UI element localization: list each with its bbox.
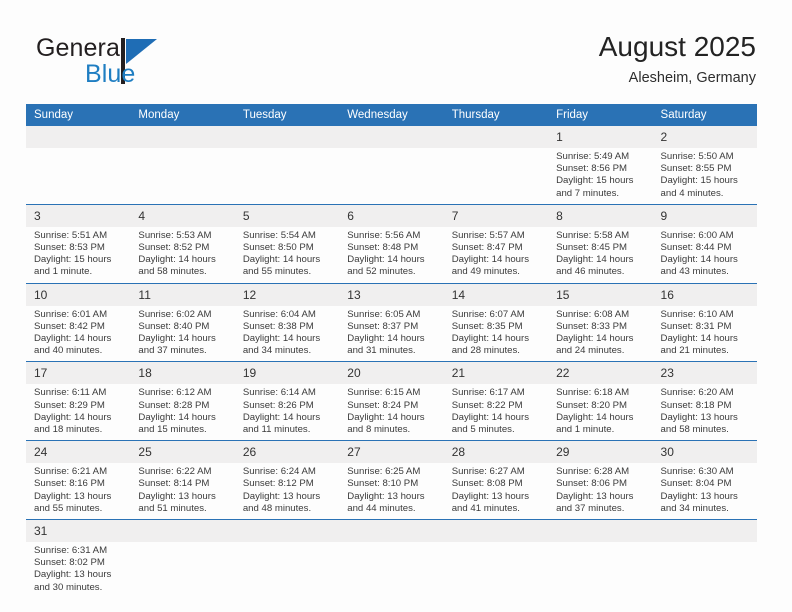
calendar-week-row: 24Sunrise: 6:21 AM Sunset: 8:16 PM Dayli… — [26, 441, 757, 520]
sun-times-info: Sunrise: 6:24 AM Sunset: 8:12 PM Dayligh… — [235, 463, 339, 519]
sun-times-info: Sunrise: 6:17 AM Sunset: 8:22 PM Dayligh… — [444, 384, 548, 440]
sun-times-info: Sunrise: 6:01 AM Sunset: 8:42 PM Dayligh… — [26, 306, 130, 362]
calendar-day-cell[interactable]: 19Sunrise: 6:14 AM Sunset: 8:26 PM Dayli… — [235, 362, 339, 441]
calendar-day-cell[interactable]: 1Sunrise: 5:49 AM Sunset: 8:56 PM Daylig… — [548, 126, 652, 204]
calendar-day-cell[interactable]: 2Sunrise: 5:50 AM Sunset: 8:55 PM Daylig… — [653, 126, 757, 204]
sun-times-info: Sunrise: 5:54 AM Sunset: 8:50 PM Dayligh… — [235, 227, 339, 283]
sun-times-info: Sunrise: 5:57 AM Sunset: 8:47 PM Dayligh… — [444, 227, 548, 283]
sun-times-info: Sunrise: 5:58 AM Sunset: 8:45 PM Dayligh… — [548, 227, 652, 283]
calendar-table: SundayMondayTuesdayWednesdayThursdayFrid… — [26, 104, 757, 598]
day-number: 18 — [130, 362, 234, 384]
weekday-header-friday: Friday — [548, 104, 652, 126]
sun-times-info: Sunrise: 6:22 AM Sunset: 8:14 PM Dayligh… — [130, 463, 234, 519]
calendar-day-cell[interactable]: 15Sunrise: 6:08 AM Sunset: 8:33 PM Dayli… — [548, 283, 652, 362]
calendar-day-cell[interactable]: 29Sunrise: 6:28 AM Sunset: 8:06 PM Dayli… — [548, 441, 652, 520]
calendar-week-row: 10Sunrise: 6:01 AM Sunset: 8:42 PM Dayli… — [26, 283, 757, 362]
calendar-week-row: 31Sunrise: 6:31 AM Sunset: 8:02 PM Dayli… — [26, 520, 757, 598]
calendar-week-row: 1Sunrise: 5:49 AM Sunset: 8:56 PM Daylig… — [26, 126, 757, 204]
page-subtitle-location: Alesheim, Germany — [599, 68, 756, 88]
calendar-day-cell[interactable]: 23Sunrise: 6:20 AM Sunset: 8:18 PM Dayli… — [653, 362, 757, 441]
sun-times-info: Sunrise: 6:02 AM Sunset: 8:40 PM Dayligh… — [130, 306, 234, 362]
day-number: 20 — [339, 362, 443, 384]
day-number: 13 — [339, 284, 443, 306]
page-header: General Blue August 2025 Alesheim, Germa… — [0, 0, 792, 100]
day-number — [444, 126, 548, 148]
calendar-day-cell[interactable]: 16Sunrise: 6:10 AM Sunset: 8:31 PM Dayli… — [653, 283, 757, 362]
day-number: 9 — [653, 205, 757, 227]
sun-times-info: Sunrise: 6:18 AM Sunset: 8:20 PM Dayligh… — [548, 384, 652, 440]
day-number: 14 — [444, 284, 548, 306]
day-number: 17 — [26, 362, 130, 384]
weekday-header-wednesday: Wednesday — [339, 104, 443, 126]
day-number: 29 — [548, 441, 652, 463]
calendar-day-cell[interactable]: 11Sunrise: 6:02 AM Sunset: 8:40 PM Dayli… — [130, 283, 234, 362]
calendar-day-cell[interactable]: 13Sunrise: 6:05 AM Sunset: 8:37 PM Dayli… — [339, 283, 443, 362]
sun-times-info: Sunrise: 6:07 AM Sunset: 8:35 PM Dayligh… — [444, 306, 548, 362]
calendar-day-cell[interactable]: 31Sunrise: 6:31 AM Sunset: 8:02 PM Dayli… — [26, 520, 130, 598]
day-number: 6 — [339, 205, 443, 227]
calendar-day-cell-empty — [548, 520, 652, 598]
sun-times-info: Sunrise: 6:00 AM Sunset: 8:44 PM Dayligh… — [653, 227, 757, 283]
weekday-header-tuesday: Tuesday — [235, 104, 339, 126]
day-number: 5 — [235, 205, 339, 227]
day-number — [339, 126, 443, 148]
sun-times-info: Sunrise: 5:53 AM Sunset: 8:52 PM Dayligh… — [130, 227, 234, 283]
sun-times-info: Sunrise: 5:51 AM Sunset: 8:53 PM Dayligh… — [26, 227, 130, 283]
day-number — [653, 520, 757, 542]
calendar-day-cell[interactable]: 4Sunrise: 5:53 AM Sunset: 8:52 PM Daylig… — [130, 204, 234, 283]
sun-times-info: Sunrise: 6:05 AM Sunset: 8:37 PM Dayligh… — [339, 306, 443, 362]
calendar-day-cell[interactable]: 3Sunrise: 5:51 AM Sunset: 8:53 PM Daylig… — [26, 204, 130, 283]
day-number: 26 — [235, 441, 339, 463]
calendar-day-cell[interactable]: 24Sunrise: 6:21 AM Sunset: 8:16 PM Dayli… — [26, 441, 130, 520]
calendar-day-cell-empty — [653, 520, 757, 598]
weekday-header-thursday: Thursday — [444, 104, 548, 126]
calendar-day-cell[interactable]: 20Sunrise: 6:15 AM Sunset: 8:24 PM Dayli… — [339, 362, 443, 441]
day-number: 7 — [444, 205, 548, 227]
calendar-day-cell-empty — [235, 126, 339, 204]
calendar-day-cell-empty — [444, 126, 548, 204]
sun-times-info: Sunrise: 6:14 AM Sunset: 8:26 PM Dayligh… — [235, 384, 339, 440]
calendar-week-row: 3Sunrise: 5:51 AM Sunset: 8:53 PM Daylig… — [26, 204, 757, 283]
sun-times-info: Sunrise: 6:21 AM Sunset: 8:16 PM Dayligh… — [26, 463, 130, 519]
day-number — [339, 520, 443, 542]
day-number — [235, 520, 339, 542]
calendar-day-cell[interactable]: 12Sunrise: 6:04 AM Sunset: 8:38 PM Dayli… — [235, 283, 339, 362]
calendar-day-cell[interactable]: 6Sunrise: 5:56 AM Sunset: 8:48 PM Daylig… — [339, 204, 443, 283]
sun-times-info: Sunrise: 6:12 AM Sunset: 8:28 PM Dayligh… — [130, 384, 234, 440]
day-number: 1 — [548, 126, 652, 148]
day-number: 10 — [26, 284, 130, 306]
day-number: 28 — [444, 441, 548, 463]
calendar-page: General Blue August 2025 Alesheim, Germa… — [0, 0, 792, 612]
sun-times-info: Sunrise: 6:30 AM Sunset: 8:04 PM Dayligh… — [653, 463, 757, 519]
sun-times-info: Sunrise: 6:10 AM Sunset: 8:31 PM Dayligh… — [653, 306, 757, 362]
day-number: 19 — [235, 362, 339, 384]
calendar-day-cell[interactable]: 22Sunrise: 6:18 AM Sunset: 8:20 PM Dayli… — [548, 362, 652, 441]
day-number: 30 — [653, 441, 757, 463]
calendar-day-cell[interactable]: 30Sunrise: 6:30 AM Sunset: 8:04 PM Dayli… — [653, 441, 757, 520]
calendar-day-cell[interactable]: 14Sunrise: 6:07 AM Sunset: 8:35 PM Dayli… — [444, 283, 548, 362]
weekday-header-saturday: Saturday — [653, 104, 757, 126]
sun-times-info: Sunrise: 6:28 AM Sunset: 8:06 PM Dayligh… — [548, 463, 652, 519]
calendar-day-cell-empty — [130, 520, 234, 598]
calendar-day-cell[interactable]: 7Sunrise: 5:57 AM Sunset: 8:47 PM Daylig… — [444, 204, 548, 283]
page-title: August 2025 — [599, 30, 756, 64]
logo-text-general: General — [36, 36, 126, 61]
sun-times-info: Sunrise: 6:08 AM Sunset: 8:33 PM Dayligh… — [548, 306, 652, 362]
day-number: 15 — [548, 284, 652, 306]
day-number: 2 — [653, 126, 757, 148]
calendar-day-cell[interactable]: 27Sunrise: 6:25 AM Sunset: 8:10 PM Dayli… — [339, 441, 443, 520]
calendar-day-cell[interactable]: 21Sunrise: 6:17 AM Sunset: 8:22 PM Dayli… — [444, 362, 548, 441]
sun-times-info: Sunrise: 6:15 AM Sunset: 8:24 PM Dayligh… — [339, 384, 443, 440]
calendar-day-cell[interactable]: 9Sunrise: 6:00 AM Sunset: 8:44 PM Daylig… — [653, 204, 757, 283]
sun-times-info: Sunrise: 6:11 AM Sunset: 8:29 PM Dayligh… — [26, 384, 130, 440]
calendar-day-cell-empty — [26, 126, 130, 204]
calendar-day-cell[interactable]: 8Sunrise: 5:58 AM Sunset: 8:45 PM Daylig… — [548, 204, 652, 283]
logo-text-blue: Blue — [85, 62, 135, 87]
calendar-day-cell[interactable]: 10Sunrise: 6:01 AM Sunset: 8:42 PM Dayli… — [26, 283, 130, 362]
day-number: 16 — [653, 284, 757, 306]
weekday-header-monday: Monday — [130, 104, 234, 126]
sun-times-info: Sunrise: 6:20 AM Sunset: 8:18 PM Dayligh… — [653, 384, 757, 440]
day-number: 31 — [26, 520, 130, 542]
day-number — [130, 126, 234, 148]
calendar-day-cell-empty — [444, 520, 548, 598]
day-number — [235, 126, 339, 148]
calendar-header-row: SundayMondayTuesdayWednesdayThursdayFrid… — [26, 104, 757, 126]
sun-times-info: Sunrise: 6:31 AM Sunset: 8:02 PM Dayligh… — [26, 542, 130, 598]
calendar-day-cell[interactable]: 18Sunrise: 6:12 AM Sunset: 8:28 PM Dayli… — [130, 362, 234, 441]
weekday-header-sunday: Sunday — [26, 104, 130, 126]
day-number: 3 — [26, 205, 130, 227]
day-number: 21 — [444, 362, 548, 384]
sun-times-info: Sunrise: 6:27 AM Sunset: 8:08 PM Dayligh… — [444, 463, 548, 519]
sun-times-info: Sunrise: 5:56 AM Sunset: 8:48 PM Dayligh… — [339, 227, 443, 283]
calendar-day-cell-empty — [339, 126, 443, 204]
day-number: 12 — [235, 284, 339, 306]
day-number: 4 — [130, 205, 234, 227]
calendar-day-cell[interactable]: 5Sunrise: 5:54 AM Sunset: 8:50 PM Daylig… — [235, 204, 339, 283]
day-number: 23 — [653, 362, 757, 384]
calendar-day-cell[interactable]: 25Sunrise: 6:22 AM Sunset: 8:14 PM Dayli… — [130, 441, 234, 520]
calendar-day-cell[interactable]: 17Sunrise: 6:11 AM Sunset: 8:29 PM Dayli… — [26, 362, 130, 441]
calendar-day-cell-empty — [339, 520, 443, 598]
general-blue-logo[interactable]: General Blue — [36, 36, 236, 92]
calendar-body: 1Sunrise: 5:49 AM Sunset: 8:56 PM Daylig… — [26, 126, 757, 598]
calendar-day-cell-empty — [235, 520, 339, 598]
day-number: 25 — [130, 441, 234, 463]
calendar-day-cell[interactable]: 26Sunrise: 6:24 AM Sunset: 8:12 PM Dayli… — [235, 441, 339, 520]
day-number: 22 — [548, 362, 652, 384]
day-number — [130, 520, 234, 542]
day-number: 24 — [26, 441, 130, 463]
calendar-day-cell-empty — [130, 126, 234, 204]
sun-times-info: Sunrise: 6:04 AM Sunset: 8:38 PM Dayligh… — [235, 306, 339, 362]
day-number: 8 — [548, 205, 652, 227]
day-number: 27 — [339, 441, 443, 463]
calendar-day-cell[interactable]: 28Sunrise: 6:27 AM Sunset: 8:08 PM Dayli… — [444, 441, 548, 520]
day-number — [444, 520, 548, 542]
day-number — [548, 520, 652, 542]
calendar-week-row: 17Sunrise: 6:11 AM Sunset: 8:29 PM Dayli… — [26, 362, 757, 441]
sun-times-info: Sunrise: 6:25 AM Sunset: 8:10 PM Dayligh… — [339, 463, 443, 519]
sun-times-info: Sunrise: 5:50 AM Sunset: 8:55 PM Dayligh… — [653, 148, 757, 204]
day-number — [26, 126, 130, 148]
day-number: 11 — [130, 284, 234, 306]
title-block: August 2025 Alesheim, Germany — [599, 30, 756, 88]
sun-times-info: Sunrise: 5:49 AM Sunset: 8:56 PM Dayligh… — [548, 148, 652, 204]
